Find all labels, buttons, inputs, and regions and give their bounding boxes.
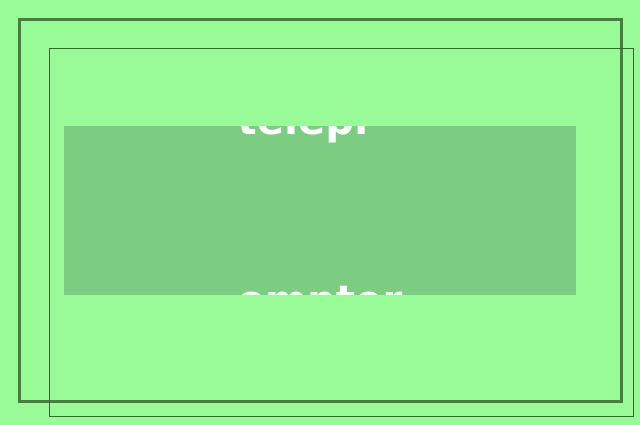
content-panel: telepr ompter xyxy=(64,126,576,295)
caption-line-1: telepr xyxy=(238,126,403,151)
caption-block: telepr ompter xyxy=(238,126,403,295)
caption-line-2: ompter xyxy=(238,271,403,296)
screenshot-canvas: telepr ompter xyxy=(0,0,640,425)
